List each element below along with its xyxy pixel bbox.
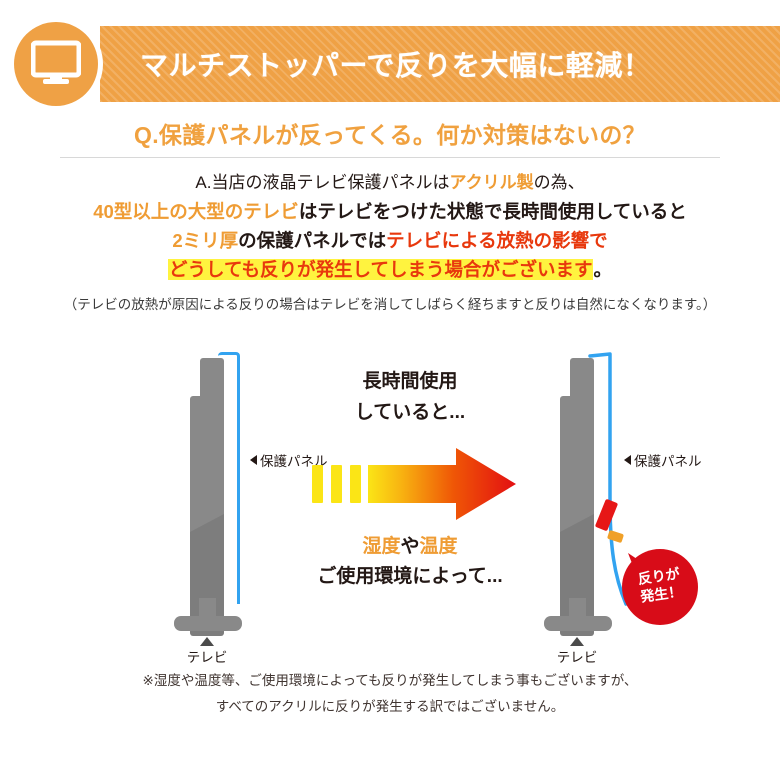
center-top-text: 長時間使用 していると... <box>300 366 520 428</box>
humidity-word: 湿度 <box>362 536 400 557</box>
answer-line-1: A.当店の液晶テレビ保護パネルはアクリル製の為、 <box>0 168 780 197</box>
answer-line-4: どうしても反りが発生してしまう場合がございます。 <box>0 255 780 284</box>
answer-line-2: 40型以上の大型のテレビはテレビをつけた状態で長時間使用していると <box>0 197 780 226</box>
center-top-line-1: 長時間使用 <box>300 366 520 397</box>
arrow-tail-bar-3 <box>350 465 361 503</box>
warp-warning-badge: 反りが 発生！ <box>612 535 708 631</box>
conjunction-word: や <box>400 536 419 557</box>
question-heading: Q.保護パネルが反ってくる。何か対策はないの？ <box>0 116 780 150</box>
diagram-center: 長時間使用 していると... 湿度や温度 ご使用環境によって... <box>300 340 520 640</box>
banner-title: マルチストッパーで反りを大幅に軽減！ <box>140 44 651 84</box>
answer-line-3-part-b: の保護パネルでは <box>238 230 386 251</box>
exclamation-bar <box>595 499 618 532</box>
center-bottom-line-2: ご使用環境によって... <box>300 562 520 592</box>
diagram-area: テレビ 保護パネル 長時間使用 していると... 湿度や温度 <box>0 340 780 640</box>
arrow-tail-bar-2 <box>331 465 342 503</box>
center-bottom-line-1: 湿度や温度 <box>300 532 520 562</box>
protective-panel-straight <box>218 352 240 604</box>
left-arrow-icon <box>250 455 257 465</box>
answer-line-1-highlight: アクリル製 <box>449 173 533 192</box>
header-divider <box>60 157 720 158</box>
footnote-block: ※湿度や温度等、ご使用環境によっても反りが発生してしまう事もございますが、 すべ… <box>0 668 780 720</box>
arrow-body <box>368 448 516 520</box>
footnote-line-2: すべてのアクリルに反りが発生する訳ではございません。 <box>0 694 780 720</box>
diagram-right-tv: テレビ 保護パネル 反りが 発生！ <box>500 340 760 640</box>
infographic-page: マルチストッパーで反りを大幅に軽減！ Q.保護パネルが反ってくる。何か対策はない… <box>0 0 780 780</box>
answer-block: A.当店の液晶テレビ保護パネルはアクリル製の為、 40型以上の大型のテレビはテレ… <box>0 168 780 284</box>
answer-line-4-highlight: どうしても反りが発生してしまう場合がございます <box>168 259 593 280</box>
tv-label-right: テレビ <box>532 646 622 666</box>
center-top-line-2: していると... <box>300 397 520 428</box>
tv-stand-base <box>174 616 242 631</box>
tv-monitor-icon <box>14 22 98 106</box>
panel-label-right: 保護パネル <box>624 450 702 470</box>
answer-line-1-part-c: の為、 <box>534 173 585 192</box>
panel-label-right-text: 保護パネル <box>634 454 702 469</box>
footnote-line-1: ※湿度や温度等、ご使用環境によっても反りが発生してしまう事もございますが、 <box>0 668 780 694</box>
header-banner: マルチストッパーで反りを大幅に軽減！ <box>0 26 780 102</box>
tv-pointer-caret <box>200 637 214 646</box>
answer-line-2-highlight: 40型以上の大型のテレビ <box>93 201 299 222</box>
heat-gradient-arrow <box>302 448 518 520</box>
arrow-tail-bar-1 <box>312 465 323 503</box>
answer-line-3-red: テレビによる放熱の影響で <box>386 230 607 251</box>
answer-line-1-part-a: A.当店の液晶テレビ保護パネルは <box>195 173 449 192</box>
answer-line-4-period: 。 <box>593 259 612 280</box>
answer-note: （テレビの放熱が原因による反りの場合はテレビを消してしばらく経ちますと反りは自然… <box>0 293 780 313</box>
answer-line-2-part-b: はテレビをつけた状態で長時間使用していると <box>299 201 687 222</box>
tv-pointer-caret <box>570 637 584 646</box>
left-arrow-icon <box>624 455 631 465</box>
answer-line-3: 2ミリ厚の保護パネルではテレビによる放熱の影響で <box>0 226 780 255</box>
center-bottom-text: 湿度や温度 ご使用環境によって... <box>300 532 520 592</box>
temperature-word: 温度 <box>420 536 458 557</box>
tv-label-left: テレビ <box>162 646 252 666</box>
answer-line-3-highlight: 2ミリ厚 <box>172 230 238 251</box>
